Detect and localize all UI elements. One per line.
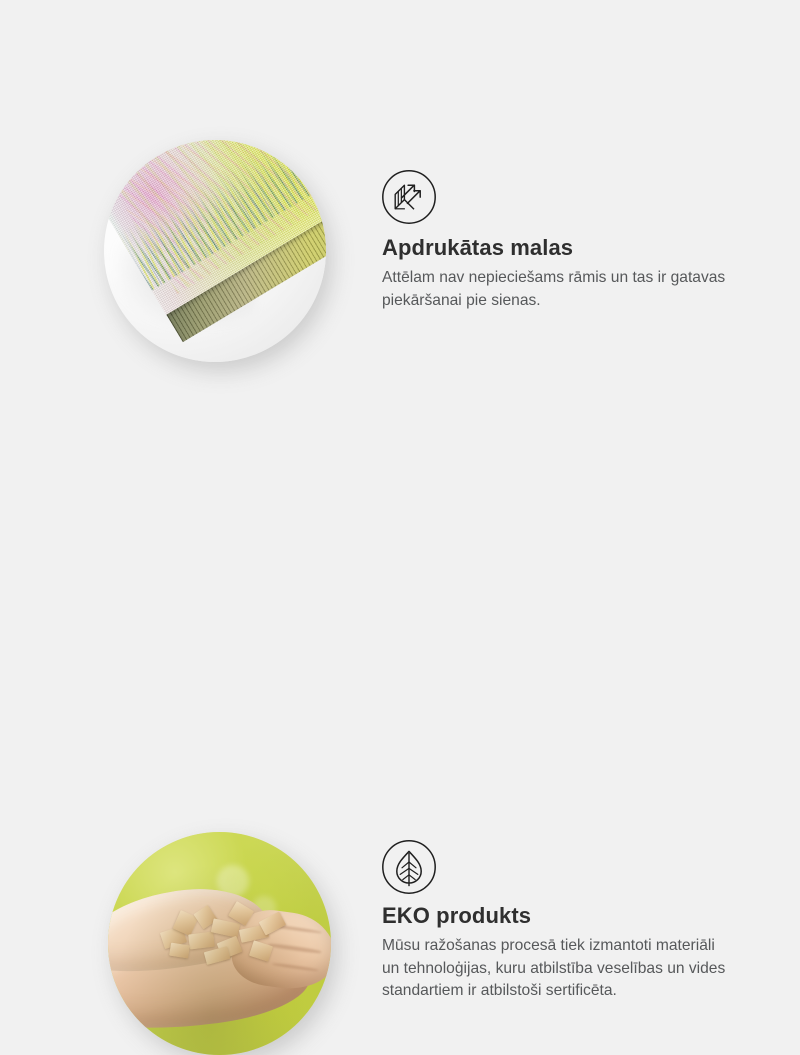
printed-canvas-edge-icon — [381, 169, 437, 225]
feature-title: EKO produkts — [382, 903, 742, 929]
feature-description: Mūsu ražošanas procesā tiek izmantoti ma… — [382, 935, 734, 1003]
feature-block-eco: EKO produkts Mūsu ražošanas procesā tiek… — [0, 400, 800, 800]
wood-chips-in-hands-photo — [108, 832, 331, 1055]
leaf-icon — [381, 839, 437, 895]
feature-info-page: Apdrukātas malas Attēlam nav nepieciešam… — [0, 0, 800, 800]
feature-title: Apdrukātas malas — [382, 235, 742, 261]
photo-shading-overlay — [108, 832, 331, 1055]
feature-description: Attēlam nav nepieciešams rāmis un tas ir… — [382, 267, 734, 313]
feature-text-eco: EKO produkts Mūsu ražošanas procesā tiek… — [382, 903, 742, 1003]
canvas-corner-photo — [104, 140, 326, 362]
feature-text-printed-edges: Apdrukātas malas Attēlam nav nepieciešam… — [382, 235, 742, 312]
feature-block-printed-edges: Apdrukātas malas Attēlam nav nepieciešam… — [0, 0, 800, 400]
